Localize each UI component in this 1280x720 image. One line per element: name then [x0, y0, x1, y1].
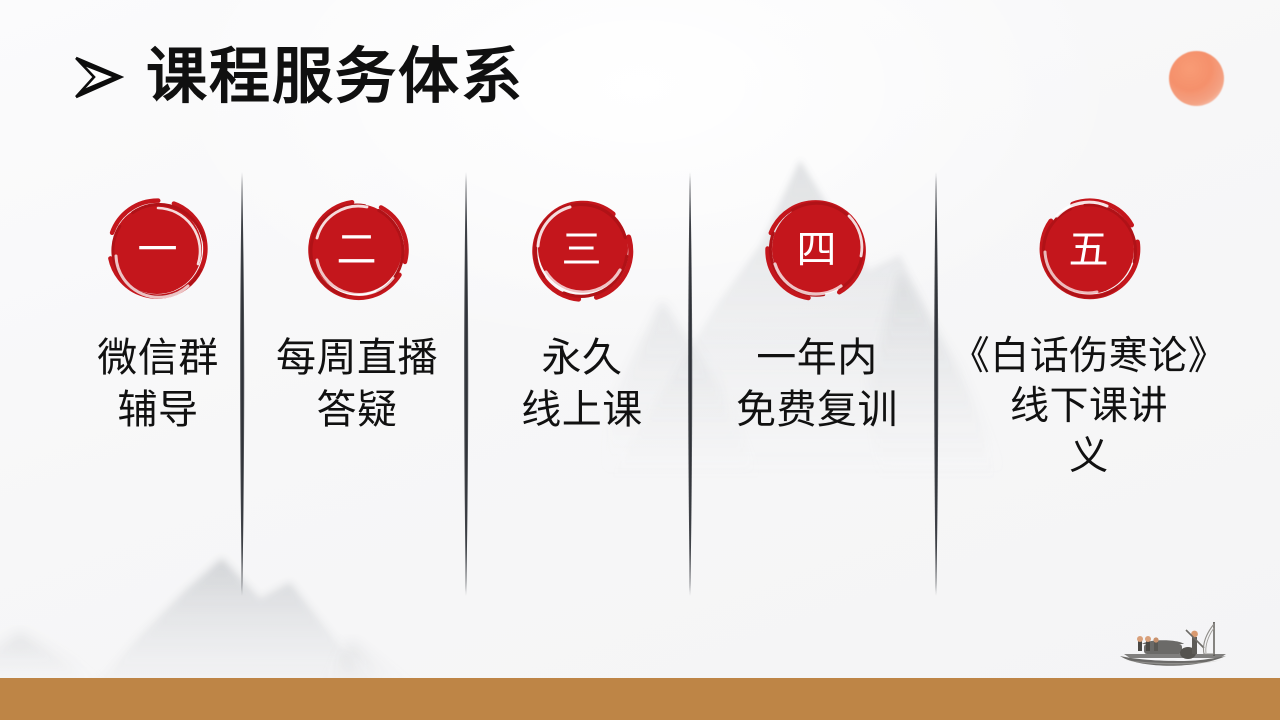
circle-badge-5: 五 [1033, 194, 1145, 306]
boat-icon [1108, 616, 1240, 678]
circle-number-3: 三 [526, 194, 638, 306]
service-column-1[interactable]: 一 微信群 辅导 [62, 172, 254, 436]
service-label-5: 《白话伤寒论》 线下课讲 义 [944, 332, 1234, 482]
column-divider-4 [929, 172, 943, 596]
service-column-2[interactable]: 二 每周直播 答疑 [259, 172, 455, 436]
page-title: 课程服务体系 [72, 46, 524, 107]
circle-badge-1: 一 [102, 194, 214, 306]
service-columns: 一 微信群 辅导 二 每周直播 答疑 [0, 172, 1280, 602]
service-label-2: 每周直播 答疑 [259, 332, 455, 436]
circle-number-2: 二 [301, 194, 413, 306]
circle-number-5: 五 [1033, 194, 1145, 306]
circle-badge-2: 二 [301, 194, 413, 306]
sun-icon [1169, 51, 1224, 106]
column-divider-2 [459, 172, 473, 596]
circle-number-1: 一 [102, 194, 214, 306]
service-label-3: 永久 线上课 [484, 332, 680, 436]
circle-number-4: 四 [761, 194, 873, 306]
service-label-4: 一年内 免费复训 [706, 332, 928, 436]
column-divider-3 [683, 172, 697, 596]
bottom-accent-bar [0, 678, 1280, 720]
arrow-bullet-icon [72, 52, 124, 102]
service-column-4[interactable]: 四 一年内 免费复训 [706, 172, 928, 436]
service-label-1: 微信群 辅导 [62, 332, 254, 436]
circle-badge-4: 四 [761, 194, 873, 306]
service-column-5[interactable]: 五 《白话伤寒论》 线下课讲 义 [944, 172, 1234, 482]
page-title-text: 课程服务体系 [146, 46, 524, 107]
service-column-3[interactable]: 三 永久 线上课 [484, 172, 680, 436]
circle-badge-3: 三 [526, 194, 638, 306]
slide-canvas: 课程服务体系 [0, 0, 1280, 720]
